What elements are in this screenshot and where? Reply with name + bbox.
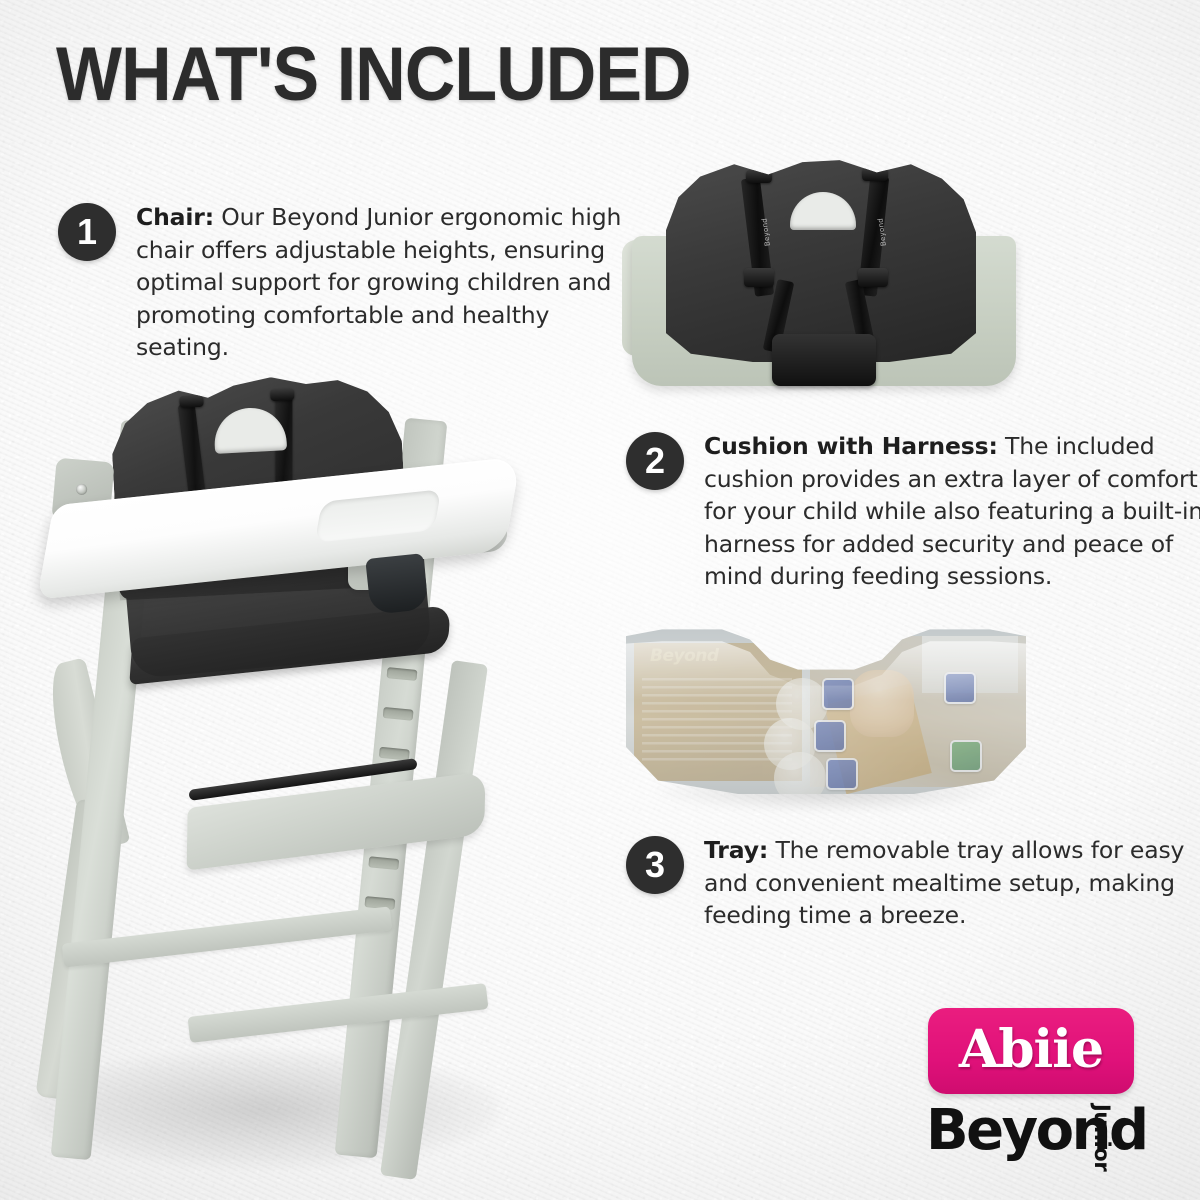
tray-artwork-baby bbox=[850, 670, 914, 737]
removable-tray-product-photo: Beyond bbox=[626, 612, 1026, 807]
tray-feature-icon-temperature bbox=[826, 758, 858, 790]
tray-feature-icon-eco bbox=[950, 740, 982, 772]
chair-height-notch bbox=[383, 707, 414, 721]
step-description-3: The removable tray allows for easy and c… bbox=[704, 836, 1184, 929]
step-number-badge-3: 3 bbox=[626, 836, 684, 894]
chair-height-notch bbox=[387, 667, 418, 681]
chair-height-notch bbox=[368, 856, 399, 870]
chair-harness-anchor-right bbox=[270, 388, 295, 401]
cushion-pad: Beyond Beyond bbox=[666, 156, 976, 362]
page-title: WHAT'S INCLUDED bbox=[56, 36, 755, 114]
tray-body: Beyond bbox=[626, 626, 1026, 794]
step-text-2: Cushion with Harness: The included cushi… bbox=[704, 430, 1200, 593]
tray-feature-icon-safety bbox=[944, 672, 976, 704]
chair-tray-bracket bbox=[365, 553, 429, 615]
cushion-harness-anchor-right bbox=[862, 168, 888, 181]
chair-cross-rail-lower bbox=[187, 983, 488, 1043]
tray-artwork-brand: Beyond bbox=[650, 646, 719, 666]
cushion-harness-buckle-left bbox=[744, 268, 774, 287]
infographic-canvas: WHAT'S INCLUDED 1 Chair: Our Beyond Juni… bbox=[0, 0, 1200, 1200]
high-chair-product-photo bbox=[18, 360, 548, 1180]
cushion-harness-buckle-right bbox=[858, 268, 888, 287]
tray-feature-icon-adjustable bbox=[814, 720, 846, 752]
logo-product-tier: Junior bbox=[1090, 1104, 1114, 1171]
cushion-harness-anchor-left bbox=[746, 170, 772, 183]
step-label-2: Cushion with Harness: bbox=[704, 432, 998, 460]
step-text-1: Chair: Our Beyond Junior ergonomic high … bbox=[136, 201, 648, 364]
tray-feature-icon-dishwasher bbox=[822, 678, 854, 710]
chair-screw bbox=[76, 483, 88, 495]
step-label-1: Chair: bbox=[136, 203, 214, 231]
step-text-3: Tray: The removable tray allows for easy… bbox=[704, 834, 1200, 932]
logo-brand-text: Abiie bbox=[928, 1008, 1134, 1094]
cushion-with-harness-product-photo: Beyond Beyond bbox=[614, 148, 1034, 398]
chair-harness-anchor-left bbox=[179, 395, 204, 408]
step-number-badge-2: 2 bbox=[626, 432, 684, 490]
brand-logo: Abiie Beyond Junior bbox=[928, 1008, 1160, 1174]
tray-packaging-artwork: Beyond bbox=[626, 626, 1026, 794]
cushion-harness-crotch-buckle bbox=[772, 334, 876, 386]
step-label-3: Tray: bbox=[704, 836, 768, 864]
step-number-badge-1: 1 bbox=[58, 203, 116, 261]
